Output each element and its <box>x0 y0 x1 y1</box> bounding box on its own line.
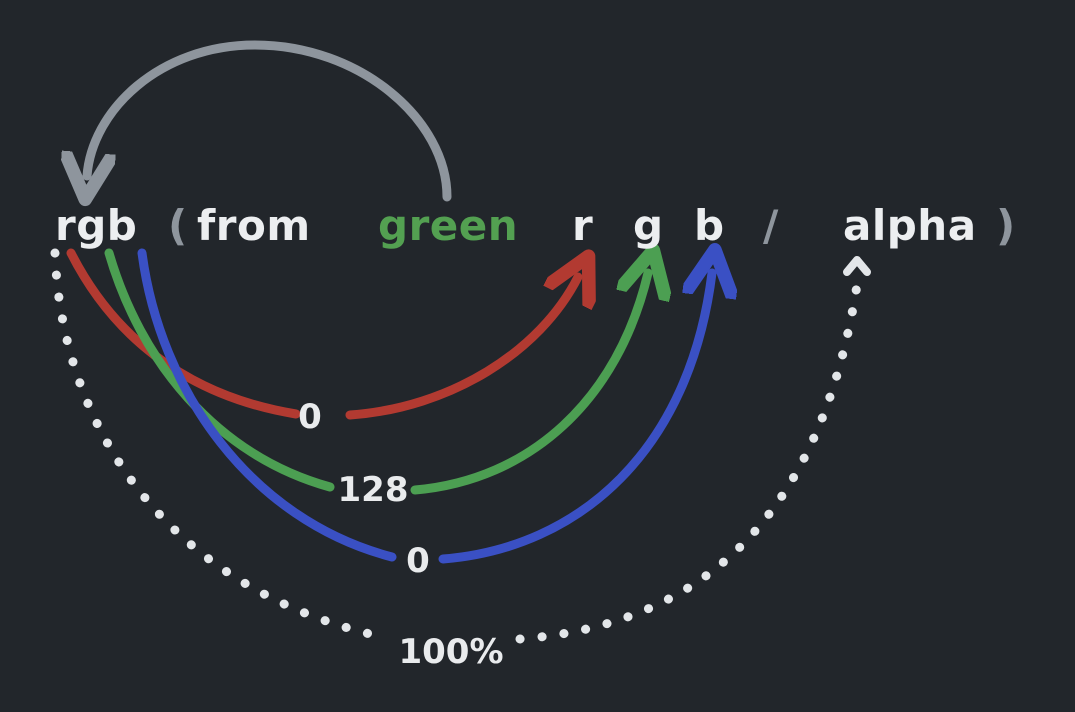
origin-color-green: green <box>378 201 518 250</box>
diagram-canvas: rgb ( from green r g b / alpha ) 0 128 0… <box>0 0 1075 712</box>
alpha-value-label: 100% <box>398 632 503 672</box>
green-channel-path-left <box>109 253 330 487</box>
relative-color-syntax-diagram: rgb ( from green r g b / alpha ) 0 128 0… <box>0 0 1075 712</box>
alpha-arrowhead-icon <box>847 260 867 272</box>
blue-channel-group <box>142 253 712 559</box>
red-channel-path-right <box>350 277 578 415</box>
function-name-rgb: rgb <box>55 201 137 250</box>
red-value-label: 0 <box>298 397 322 437</box>
from-keyword: from <box>197 201 311 250</box>
channel-token-g: g <box>633 201 664 250</box>
alpha-channel-group <box>55 253 867 639</box>
blue-value-label: 0 <box>406 541 430 581</box>
channel-token-r: r <box>572 201 593 250</box>
slash-separator: / <box>763 201 779 250</box>
alpha-channel-path-right <box>520 285 857 639</box>
green-channel-path-right <box>415 273 648 490</box>
close-paren: ) <box>996 201 1016 250</box>
channel-token-b: b <box>694 201 725 250</box>
origin-arc-group <box>87 45 447 197</box>
green-value-label: 128 <box>338 470 409 510</box>
origin-arc-path <box>87 45 447 197</box>
alpha-keyword: alpha <box>843 201 977 250</box>
syntax-line: rgb ( from green r g b / alpha ) <box>55 201 1016 250</box>
open-paren: ( <box>168 201 188 250</box>
